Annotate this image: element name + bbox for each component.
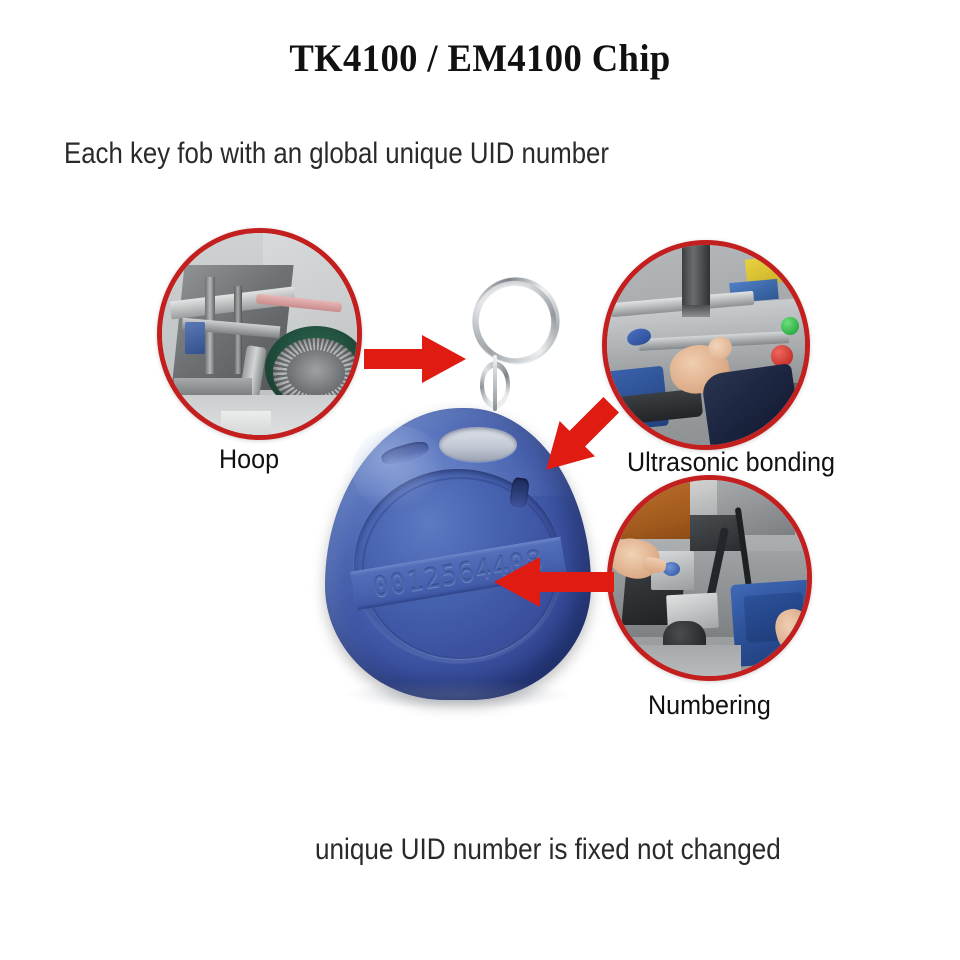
key-fob-shadow	[346, 680, 569, 709]
process-label-numbering: Numbering	[648, 690, 771, 721]
key-fob-ring-hole	[439, 427, 516, 462]
arrow-hoop-to-ring	[364, 330, 468, 388]
infographic-page: TK4100 / EM4100 Chip Each key fob with a…	[0, 0, 960, 960]
process-photo-ultrasonic-bonding	[602, 240, 810, 450]
process-photo-numbering	[607, 475, 812, 681]
footer-caption: unique UID number is fixed not changed	[315, 833, 781, 867]
page-title: TK4100 / EM4100 Chip	[29, 36, 931, 81]
photo-ultrasonic-content	[607, 245, 805, 445]
connector-ring-wire	[493, 355, 497, 412]
process-label-ultrasonic-bonding: Ultrasonic bonding	[627, 447, 835, 478]
photo-numbering-content	[612, 480, 807, 676]
arrow-numbering-to-fob	[492, 552, 614, 612]
page-subtitle: Each key fob with an global unique UID n…	[64, 137, 609, 171]
arrow-ultrasonic-to-fob	[529, 395, 627, 481]
process-label-hoop: Hoop	[219, 444, 279, 475]
photo-hoop-content	[162, 233, 357, 435]
